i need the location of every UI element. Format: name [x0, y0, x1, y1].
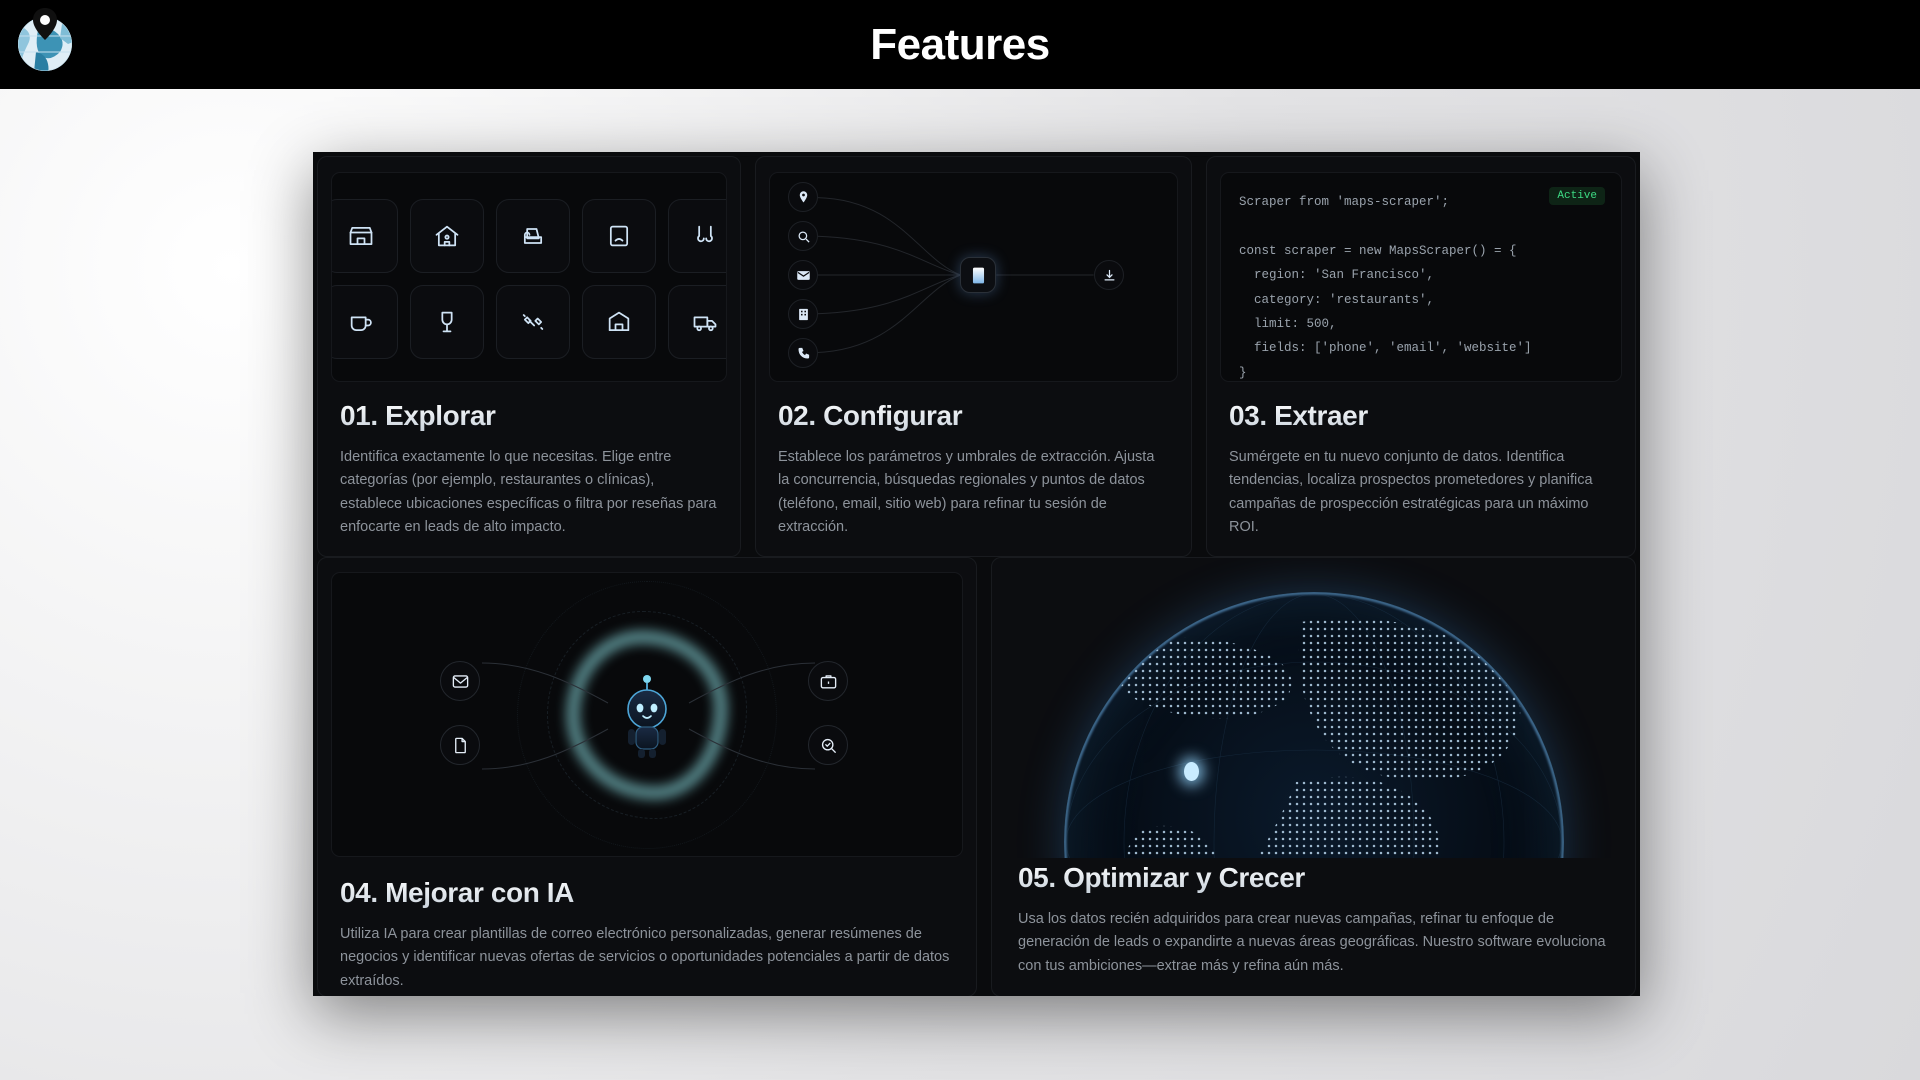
arc-bottom-right — [687, 723, 817, 773]
card-01-text: 01. Explorar Identifica exactamente lo q… — [318, 382, 740, 540]
arc-top-left — [480, 659, 610, 709]
card-05-title: 05. Optimizar y Crecer — [1018, 862, 1609, 894]
card-05-description: Usa los datos recién adquiridos para cre… — [1018, 908, 1609, 978]
feature-card-05[interactable]: 05. Optimizar y Crecer Usa los datos rec… — [991, 557, 1636, 996]
card-02-text: 02. Configurar Establece los parámetros … — [756, 382, 1191, 540]
card-02-description: Establece los parámetros y umbrales de e… — [778, 446, 1169, 540]
status-badge: Active — [1549, 187, 1605, 205]
card-05-text: 05. Optimizar y Crecer Usa los datos rec… — [992, 862, 1635, 996]
card-03-text: 03. Extraer Sumérgete en tu nuevo conjun… — [1207, 382, 1635, 540]
feature-card-02[interactable]: 02. Configurar Establece los parámetros … — [755, 156, 1192, 557]
sofa-icon[interactable] — [496, 199, 570, 273]
card-04-title: 04. Mejorar con IA — [340, 877, 954, 909]
feature-card-01[interactable]: 01. Explorar Identifica exactamente lo q… — [317, 156, 741, 557]
search-icon[interactable] — [788, 221, 818, 251]
feature-card-04[interactable]: 04. Mejorar con IA Utiliza IA para crear… — [317, 557, 977, 996]
card-04-description: Utiliza IA para crear plantillas de corr… — [340, 923, 954, 993]
arc-top-right — [687, 659, 817, 709]
frame-icon[interactable] — [582, 199, 656, 273]
scissors-icon[interactable] — [668, 199, 727, 273]
ai-robot-aura-visual — [331, 572, 963, 857]
mail-icon[interactable] — [440, 661, 480, 701]
briefcase-icon[interactable] — [808, 661, 848, 701]
category-icon-grid-visual — [331, 172, 727, 382]
store-icon[interactable] — [331, 199, 398, 273]
globe-sphere — [1064, 592, 1564, 858]
card-03-title: 03. Extraer — [1229, 400, 1613, 432]
bank-icon[interactable] — [582, 285, 656, 359]
arc-bottom-left — [480, 723, 610, 773]
card-03-description: Sumérgete en tu nuevo conjunto de datos.… — [1229, 446, 1613, 540]
card-04-text: 04. Mejorar con IA Utiliza IA para crear… — [318, 857, 976, 993]
feature-card-03[interactable]: Scraper from 'maps-scraper'; const scrap… — [1206, 156, 1636, 557]
building-icon[interactable] — [788, 299, 818, 329]
icon-grid — [331, 199, 727, 359]
card-01-title: 01. Explorar — [340, 400, 718, 432]
ai-aura-group — [332, 573, 962, 856]
features-panel: 01. Explorar Identifica exactamente lo q… — [313, 152, 1640, 996]
card-02-title: 02. Configurar — [778, 400, 1169, 432]
globe-landmass-dots — [1064, 592, 1564, 858]
truck-icon[interactable] — [668, 285, 727, 359]
search-check-icon[interactable] — [808, 725, 848, 765]
globe-location-pin-icon — [10, 6, 80, 76]
phone-icon[interactable] — [788, 338, 818, 368]
mail-icon[interactable] — [788, 260, 818, 290]
coffee-cup-icon[interactable] — [331, 285, 398, 359]
robot-mascot-icon — [614, 669, 680, 761]
card-01-description: Identifica exactamente lo que necesitas.… — [340, 446, 718, 540]
dotted-globe-visual — [992, 558, 1635, 858]
document-icon[interactable] — [960, 257, 996, 293]
node-diagram-visual — [769, 172, 1178, 382]
globe-hotspot — [1184, 762, 1199, 781]
code-block-visual: Scraper from 'maps-scraper'; const scrap… — [1220, 172, 1622, 382]
features-row-top: 01. Explorar Identifica exactamente lo q… — [313, 152, 1640, 557]
file-icon[interactable] — [440, 725, 480, 765]
page-title: Features — [870, 20, 1049, 70]
house-icon[interactable] — [410, 199, 484, 273]
wine-glass-icon[interactable] — [410, 285, 484, 359]
features-row-bottom: 04. Mejorar con IA Utiliza IA para crear… — [313, 557, 1640, 996]
map-pin-icon[interactable] — [788, 182, 818, 212]
top-header-bar: Features — [0, 0, 1920, 89]
node-diagram — [770, 173, 1177, 381]
dumbbell-icon[interactable] — [496, 285, 570, 359]
download-icon[interactable] — [1094, 260, 1124, 290]
